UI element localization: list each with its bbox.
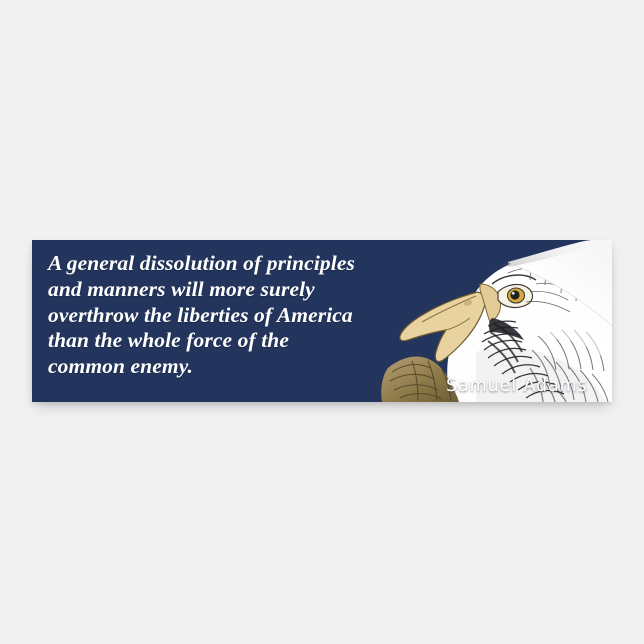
attribution-text: Samuel Adams xyxy=(446,376,588,396)
product-stage: A general dissolution of principles and … xyxy=(0,0,644,644)
bumper-sticker[interactable]: A general dissolution of principles and … xyxy=(32,240,612,402)
